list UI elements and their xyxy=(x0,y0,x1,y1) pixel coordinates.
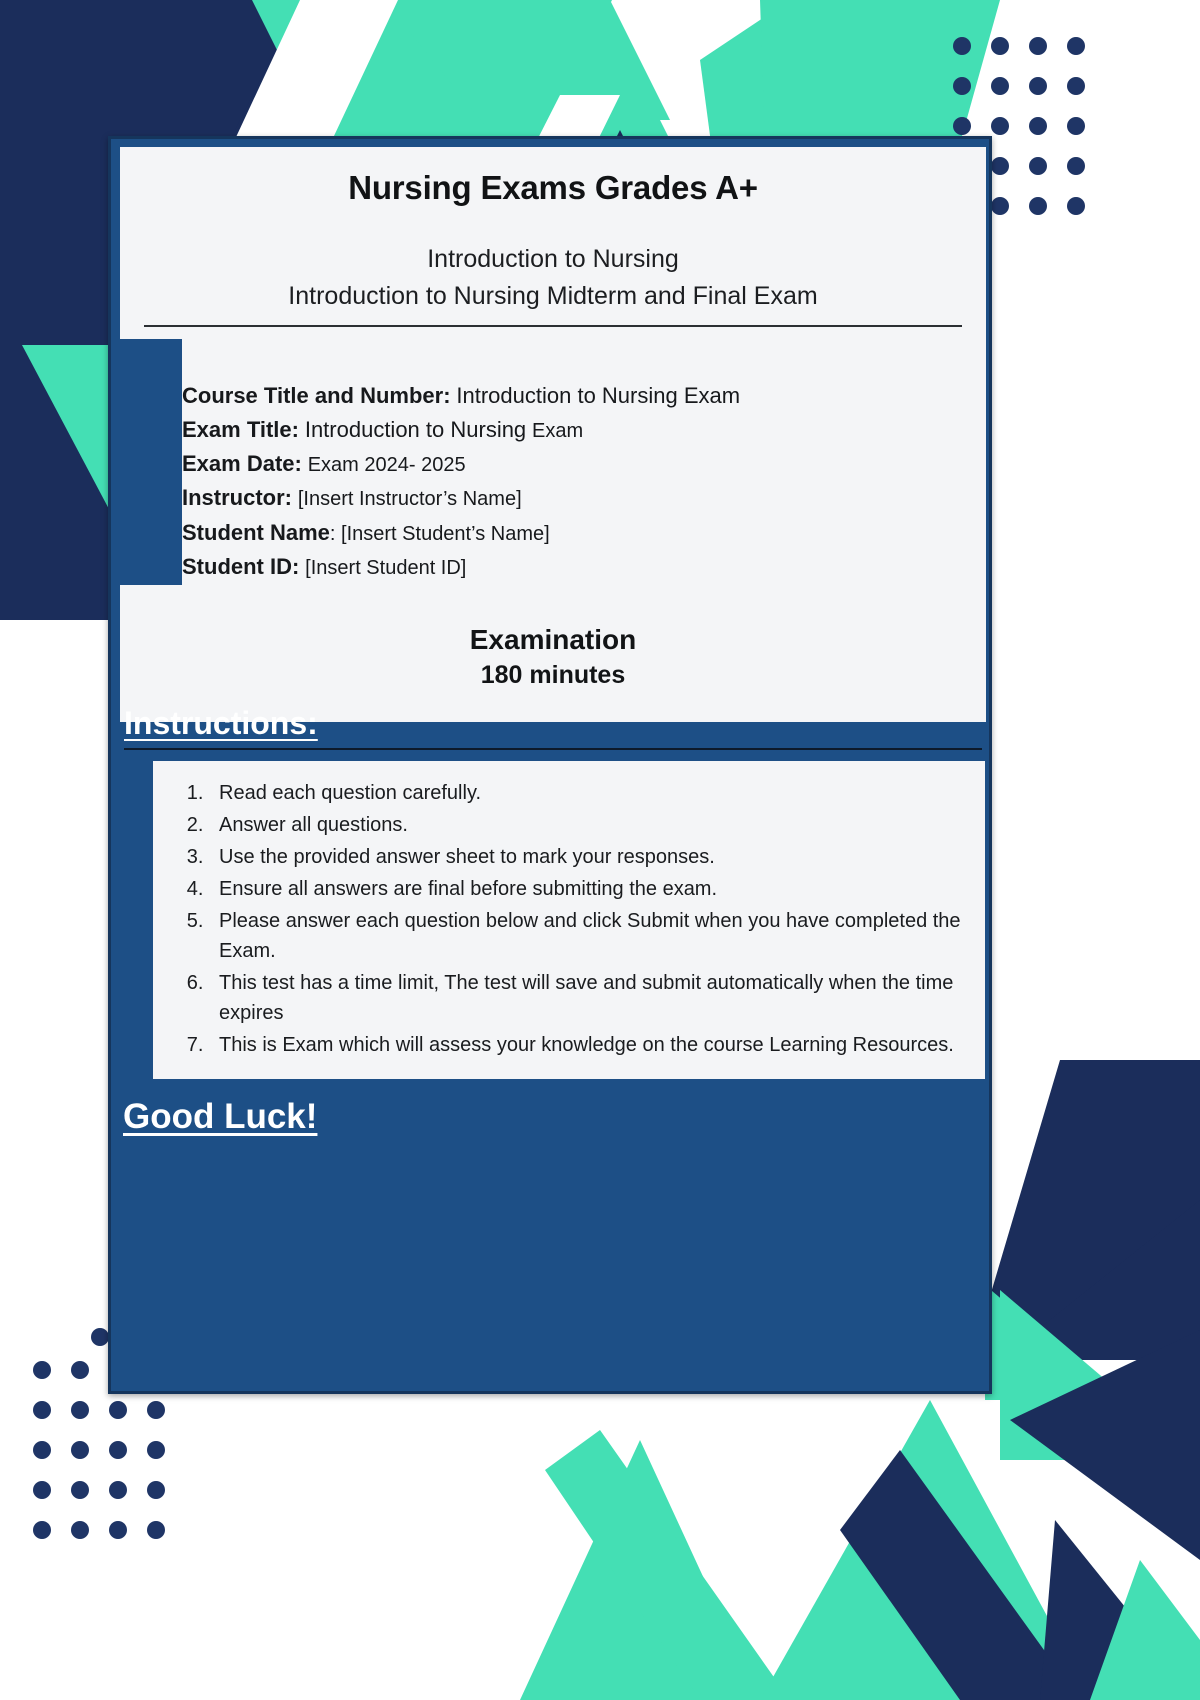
meta-exam-date: Exam Date: Exam 2024- 2025 xyxy=(182,447,986,481)
list-item: This is Exam which will assess your know… xyxy=(209,1029,963,1061)
document-header-panel: Nursing Exams Grades A+ Introduction to … xyxy=(120,147,986,722)
list-item: Use the provided answer sheet to mark yo… xyxy=(209,841,963,873)
meta-course: Course Title and Number: Introduction to… xyxy=(182,379,986,413)
meta-student-name-value: : [Insert Student’s Name] xyxy=(330,523,550,545)
meta-exam-date-value: Exam 2024- 2025 xyxy=(308,454,466,476)
meta-instructor: Instructor: [Insert Instructor’s Name] xyxy=(182,481,986,515)
good-luck-wrapper: Good Luck! xyxy=(121,1097,317,1137)
meta-student-id-label: Student ID: xyxy=(182,554,299,579)
list-item: Read each question carefully. xyxy=(209,777,963,809)
meta-exam-title-value: Introduction to Nursing xyxy=(305,417,526,442)
meta-exam-title: Exam Title: Introduction to Nursing Exam xyxy=(182,413,986,447)
meta-exam-title-suffix: Exam xyxy=(532,420,583,442)
meta-course-value: Introduction to Nursing Exam xyxy=(456,383,740,408)
subtitle-line-2: Introduction to Nursing Midterm and Fina… xyxy=(150,278,956,315)
exam-meta-block: Course Title and Number: Introduction to… xyxy=(120,327,986,584)
list-item: This test has a time limit, The test wil… xyxy=(209,967,963,1029)
meta-student-id: Student ID: [Insert Student ID] xyxy=(182,550,986,584)
exam-document-card: Nursing Exams Grades A+ Introduction to … xyxy=(108,136,992,1394)
meta-student-id-value: [Insert Student ID] xyxy=(305,557,466,579)
page-title: Nursing Exams Grades A+ xyxy=(120,169,986,213)
meta-exam-date-label: Exam Date: xyxy=(182,451,302,476)
side-accent-tab xyxy=(120,339,182,585)
instructions-list: Read each question carefully. Answer all… xyxy=(209,777,963,1061)
document-subtitle: Introduction to Nursing Introduction to … xyxy=(120,213,986,319)
examination-block: Examination 180 minutes xyxy=(120,584,986,710)
meta-student-name: Student Name: [Insert Student’s Name] xyxy=(182,516,986,550)
meta-course-label: Course Title and Number: xyxy=(182,383,451,408)
subtitle-line-1: Introduction to Nursing xyxy=(150,241,956,278)
instructions-heading: Instructions: xyxy=(124,705,318,742)
instructions-panel: Read each question carefully. Answer all… xyxy=(153,761,985,1079)
meta-instructor-label: Instructor: xyxy=(182,485,292,510)
examination-heading: Examination xyxy=(120,622,986,659)
meta-instructor-value: [Insert Instructor’s Name] xyxy=(298,488,522,510)
list-item: Answer all questions. xyxy=(209,809,963,841)
good-luck-text: Good Luck! xyxy=(123,1097,317,1137)
instructions-heading-divider xyxy=(124,748,982,750)
meta-exam-title-label: Exam Title: xyxy=(182,417,299,442)
meta-student-name-label: Student Name xyxy=(182,520,330,545)
list-item: Ensure all answers are final before subm… xyxy=(209,873,963,905)
list-item: Please answer each question below and cl… xyxy=(209,905,963,967)
instructions-heading-band: Instructions: xyxy=(120,695,986,750)
examination-duration: 180 minutes xyxy=(120,659,986,692)
